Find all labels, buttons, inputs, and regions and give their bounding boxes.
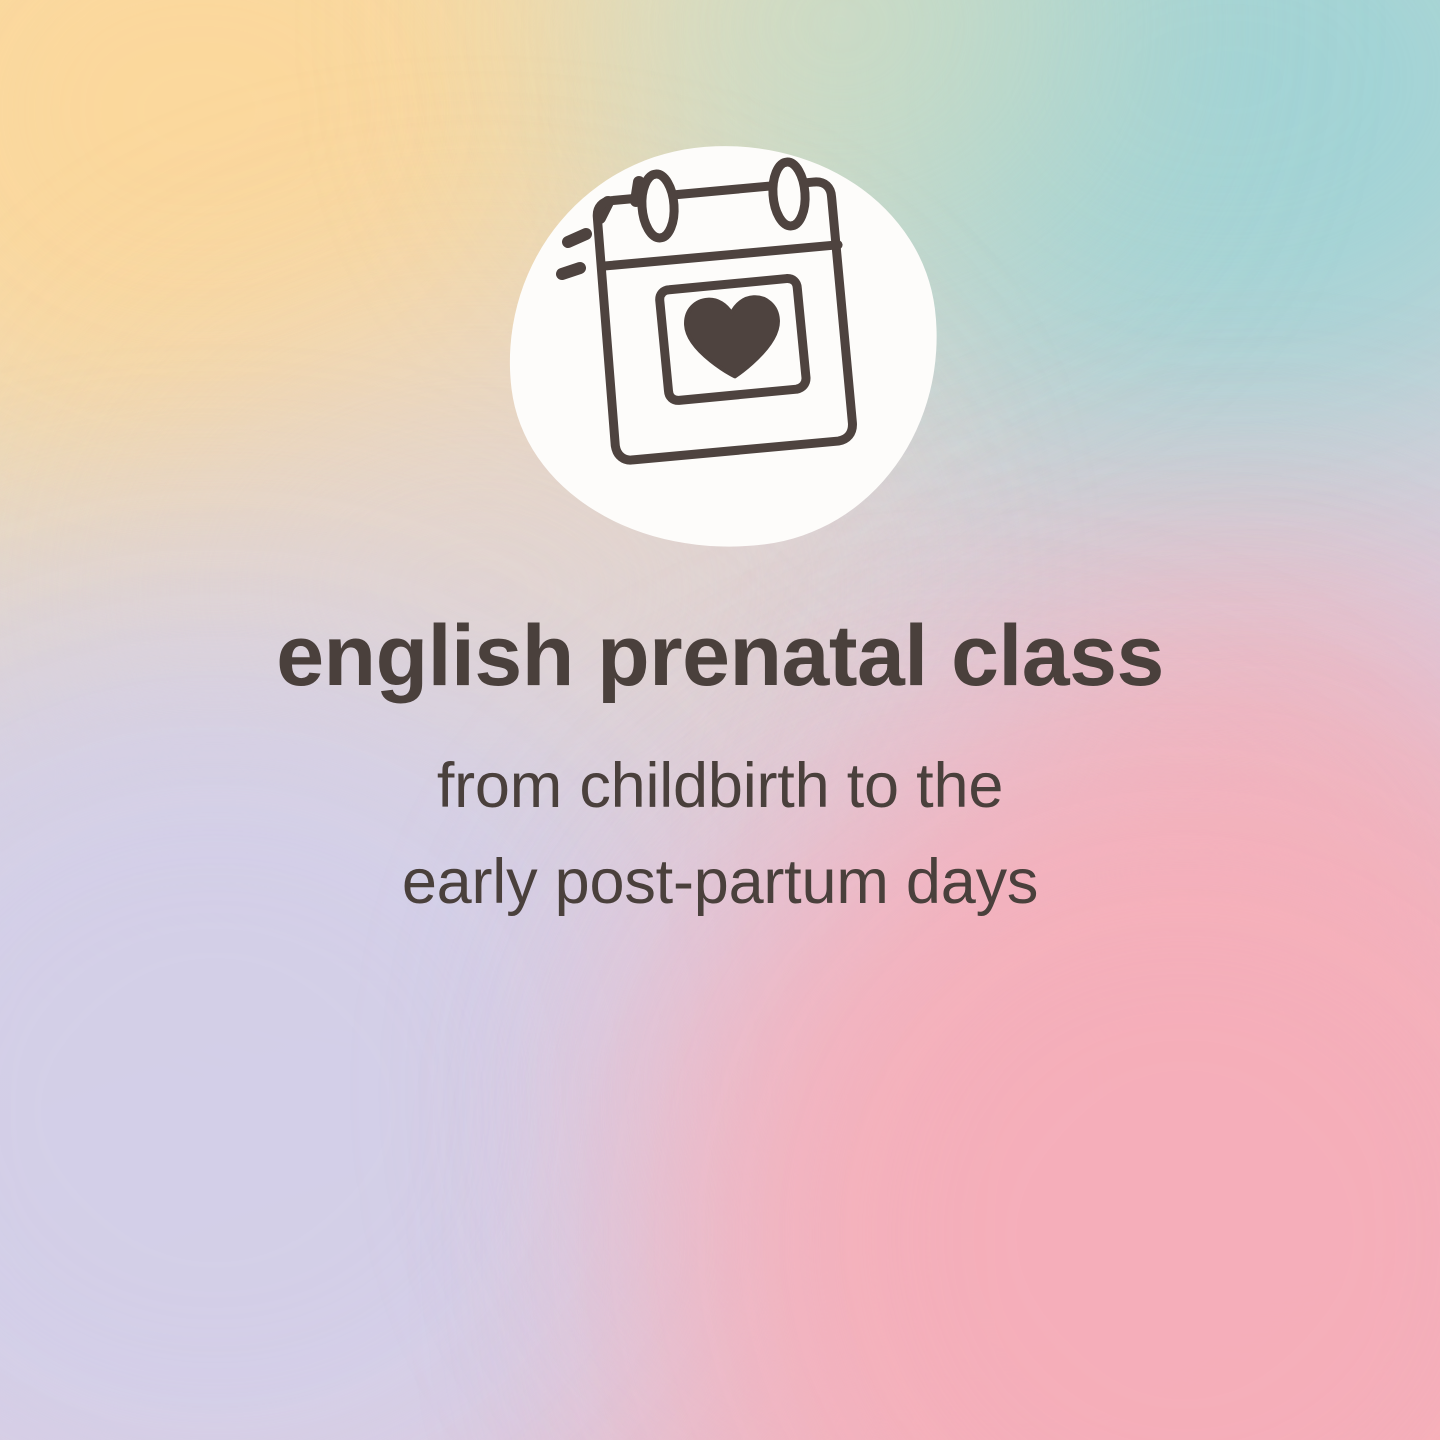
binder-ring-left	[640, 173, 676, 239]
calendar-badge	[508, 146, 938, 548]
page-title: english prenatal class	[0, 612, 1440, 701]
subtitle-line-1: from childbirth to the	[0, 739, 1440, 835]
heart-glyph	[685, 296, 781, 379]
calendar-heart-icon	[508, 146, 938, 548]
text-block: english prenatal class from childbirth t…	[0, 612, 1440, 931]
poster-canvas: english prenatal class from childbirth t…	[0, 0, 1440, 1440]
subtitle-line-2: early post-partum days	[0, 835, 1440, 931]
subtitle-group: from childbirth to the early post-partum…	[0, 739, 1440, 931]
calendar-header-divider	[602, 245, 838, 266]
binder-ring-right	[771, 161, 807, 227]
